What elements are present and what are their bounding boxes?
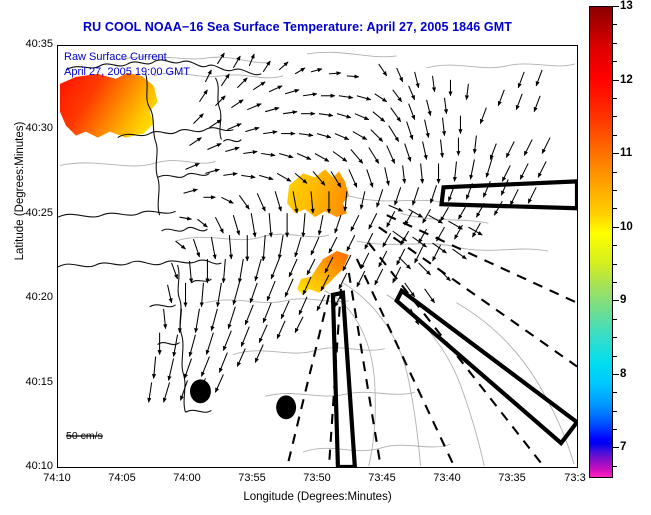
colorbar-tick-label: 7 xyxy=(620,441,626,453)
radar-site-marker-east xyxy=(276,395,296,419)
x-axis-tick-labels: 74:10 74:05 74:00 73:55 73:50 73:45 73:4… xyxy=(57,472,578,492)
colorbar-tick-label: 9 xyxy=(620,294,626,306)
velocity-scale-legend: 50 cm/s xyxy=(64,430,103,445)
x-tick: 73:50 xyxy=(287,472,347,484)
map-plot-area[interactable]: Raw Surface Current April 27, 2005 19:00… xyxy=(57,45,578,468)
y-tick: 40:30 xyxy=(5,122,53,134)
radar-range-dashed-lines xyxy=(287,215,577,467)
surface-current-vectors xyxy=(149,53,550,402)
x-axis-title: Longitude (Degrees:Minutes) xyxy=(57,491,578,503)
map-graphics-layer xyxy=(58,46,577,467)
wedge-south xyxy=(333,293,355,467)
colorbar-tick-group: 13 12 11 10 9 8 7 xyxy=(589,6,651,478)
sst-patch-northwest xyxy=(60,73,158,138)
annotation-line-1: Raw Surface Current xyxy=(64,50,190,65)
y-axis-title: Latitude (Degrees:Minutes) xyxy=(14,91,26,291)
wedge-southeast xyxy=(397,291,577,443)
x-tick: 73:40 xyxy=(417,472,477,484)
y-tick: 40:10 xyxy=(5,460,53,472)
figure-title: RU COOL NOAA−16 Sea Surface Temperature:… xyxy=(0,20,595,34)
y-tick: 40:35 xyxy=(5,38,53,50)
x-tick: 74:10 xyxy=(27,472,87,484)
colorbar-tick-label: 11 xyxy=(620,147,632,159)
colorbar-tick-label: 8 xyxy=(620,368,626,380)
radar-site-markers xyxy=(190,379,296,419)
radar-site-marker-west xyxy=(190,379,211,403)
annotation-line-2: April 27, 2005 19:00 GMT xyxy=(64,65,190,80)
wedge-northeast xyxy=(442,181,577,208)
x-tick: 74:05 xyxy=(92,472,152,484)
x-tick: 73:45 xyxy=(352,472,412,484)
y-tick: 40:25 xyxy=(5,207,53,219)
colorbar-tick-label: 10 xyxy=(620,221,633,233)
radar-coverage-wedges xyxy=(333,181,577,467)
x-tick: 73:55 xyxy=(222,472,282,484)
sst-patch-central-south xyxy=(297,251,349,295)
y-tick: 40:15 xyxy=(5,376,53,388)
y-axis-tick-labels: 40:35 40:30 40:25 40:20 40:15 40:10 xyxy=(0,45,53,468)
right-arrow-icon xyxy=(64,430,103,445)
sst-raster-patches xyxy=(60,73,349,295)
plot-annotation: Raw Surface Current April 27, 2005 19:00… xyxy=(64,50,190,80)
colorbar-tick-label: 12 xyxy=(620,74,633,86)
sst-map-figure: RU COOL NOAA−16 Sea Surface Temperature:… xyxy=(0,0,651,515)
x-tick: 74:00 xyxy=(157,472,217,484)
y-tick: 40:20 xyxy=(5,291,53,303)
x-tick: 73:35 xyxy=(482,472,542,484)
colorbar-tick-label: 13 xyxy=(620,0,633,12)
